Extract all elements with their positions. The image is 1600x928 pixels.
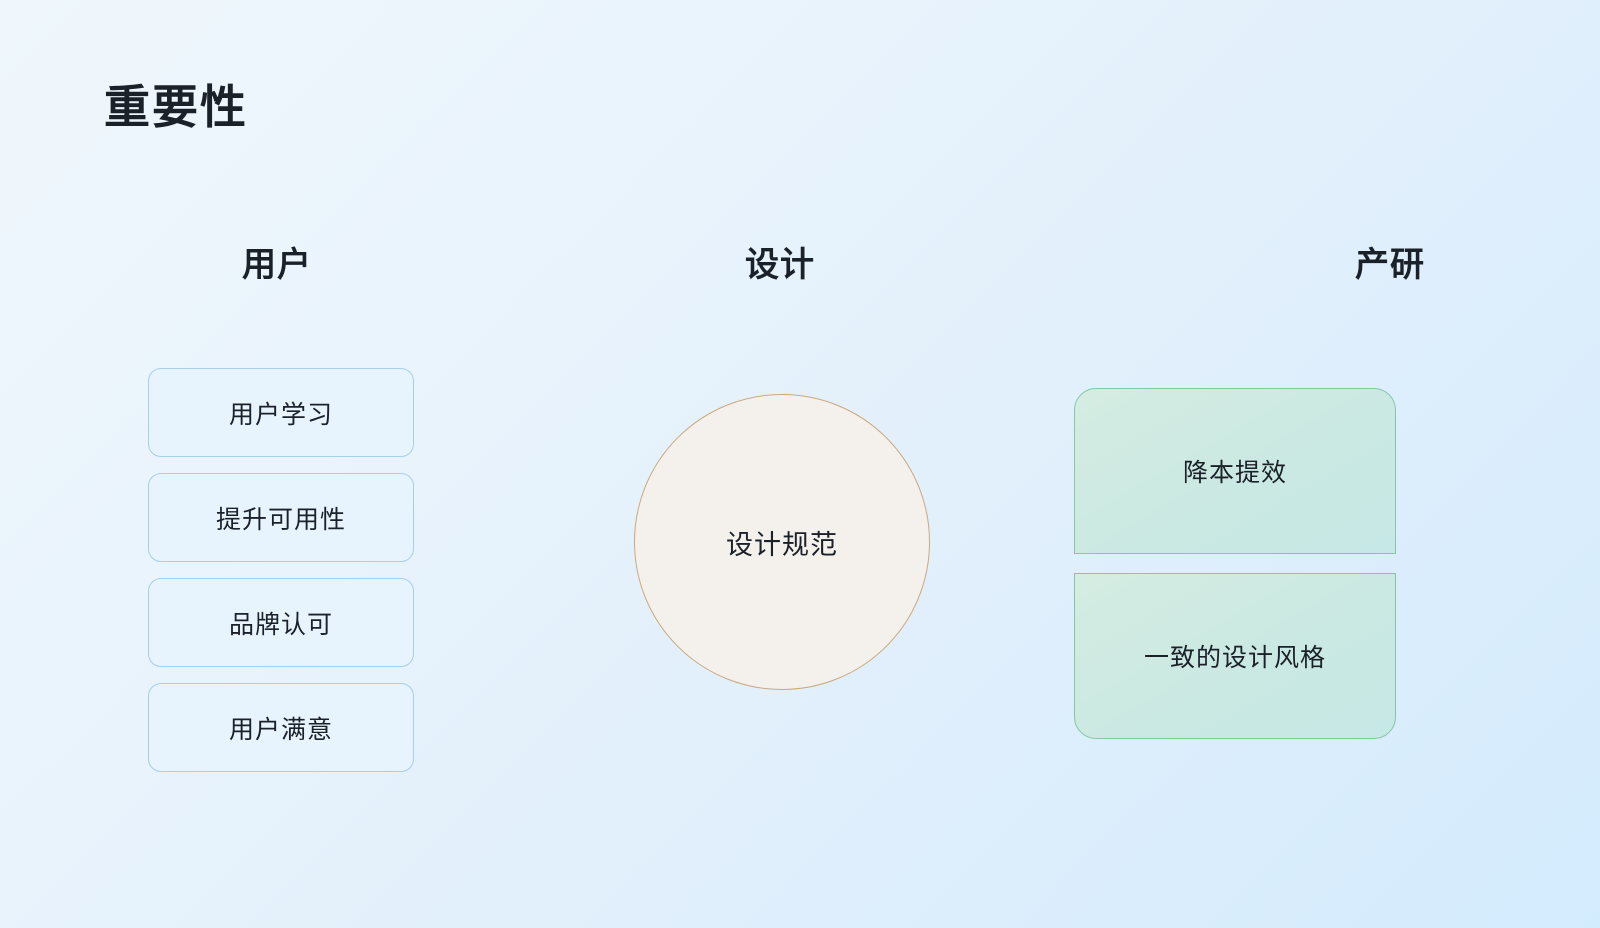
rd-card-1[interactable]: 降本提效	[1074, 388, 1396, 554]
user-card-4[interactable]: 用户满意	[148, 683, 414, 772]
user-card-3-label: 品牌认可	[229, 605, 333, 641]
user-card-4-label: 用户满意	[229, 710, 333, 746]
columns-container: 用户 用户学习 提升可用性 品牌认可 用户满意 设计 设计规范 产研	[0, 248, 1600, 808]
user-card-1-label: 用户学习	[229, 395, 333, 431]
user-card-stack: 用户学习 提升可用性 品牌认可 用户满意	[148, 368, 414, 788]
user-card-1[interactable]: 用户学习	[148, 368, 414, 457]
design-spec-circle-label: 设计规范	[726, 523, 838, 562]
column-user: 用户 用户学习 提升可用性 品牌认可 用户满意	[88, 248, 472, 288]
column-title-user: 用户	[85, 248, 469, 288]
rd-card-stack: 降本提效 一致的设计风格	[1074, 388, 1396, 739]
column-rd: 产研 降本提效 一致的设计风格	[1040, 248, 1430, 288]
rd-card-2-label: 一致的设计风格	[1144, 638, 1326, 674]
user-card-3[interactable]: 品牌认可	[148, 578, 414, 667]
user-card-2-label: 提升可用性	[216, 500, 346, 536]
column-title-rd: 产研	[1195, 248, 1585, 288]
rd-card-1-label: 降本提效	[1183, 453, 1287, 489]
page-title: 重要性	[104, 84, 248, 130]
rd-card-2[interactable]: 一致的设计风格	[1074, 573, 1396, 739]
design-circle-wrap: 设计规范	[634, 394, 930, 690]
column-title-design: 设计	[588, 248, 972, 288]
column-design: 设计 设计规范	[592, 248, 976, 288]
user-card-2[interactable]: 提升可用性	[148, 473, 414, 562]
design-spec-circle[interactable]: 设计规范	[634, 394, 930, 690]
